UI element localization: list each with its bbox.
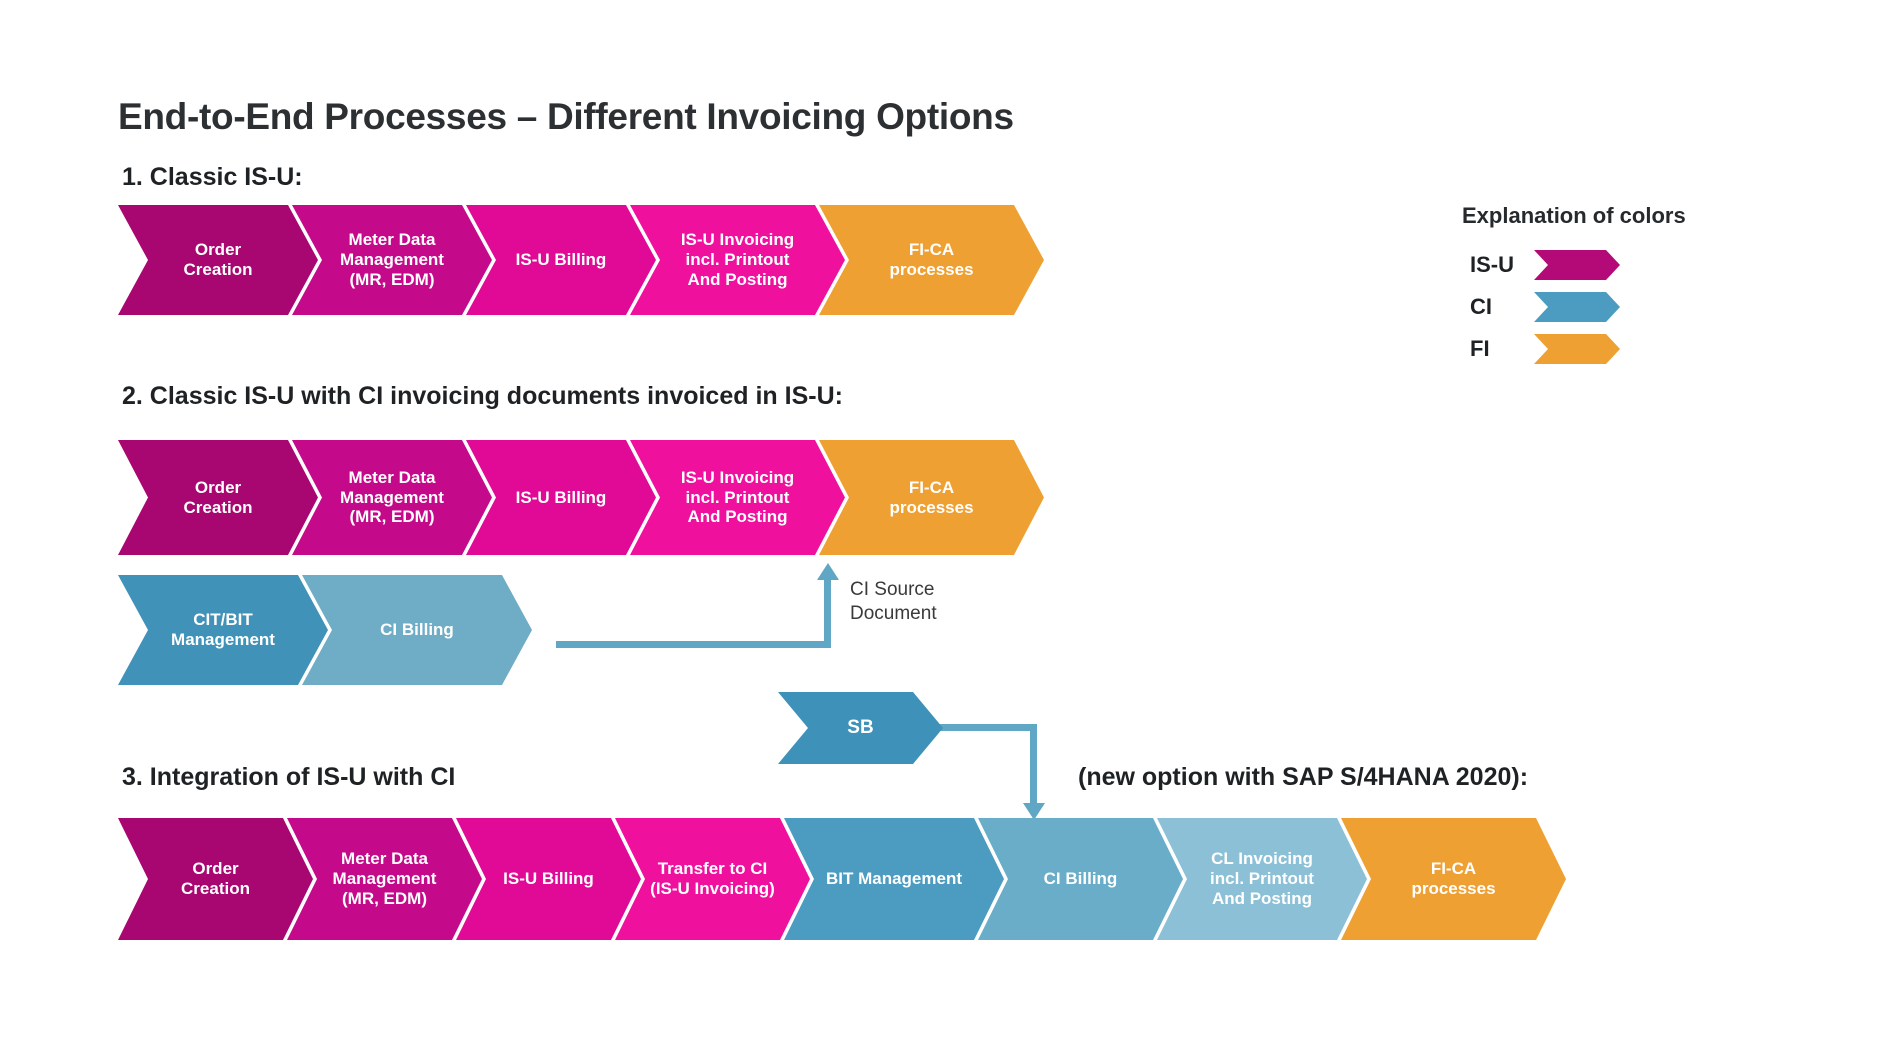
process-step-label: Order Creation bbox=[178, 240, 259, 280]
process-step-label: CL Invoicing incl. Printout And Posting bbox=[1204, 849, 1320, 909]
process-step[interactable]: IS-U Billing bbox=[456, 818, 641, 940]
process-step-label: BIT Management bbox=[820, 869, 968, 889]
legend-row-isu: IS-U bbox=[1470, 250, 1620, 280]
section-heading-2: 2. Classic IS-U with CI invoicing docume… bbox=[122, 382, 843, 411]
page-title: End-to-End Processes – Different Invoici… bbox=[118, 96, 1014, 138]
process-step[interactable]: Meter Data Management (MR, EDM) bbox=[292, 440, 492, 555]
process-step-label: IS-U Invoicing incl. Printout And Postin… bbox=[675, 230, 800, 290]
process-row-sb: SB bbox=[778, 692, 917, 764]
process-step[interactable]: IS-U Billing bbox=[466, 440, 656, 555]
process-step[interactable]: CI Billing bbox=[302, 575, 532, 685]
connector-ci-source-horizontal bbox=[556, 641, 831, 648]
section-heading-3: 3. Integration of IS-U with CI bbox=[122, 763, 455, 792]
legend-label-isu: IS-U bbox=[1470, 252, 1534, 278]
connector-sb-vertical bbox=[1030, 724, 1037, 804]
process-step[interactable]: FI-CA processes bbox=[819, 440, 1044, 555]
slide-canvas: End-to-End Processes – Different Invoici… bbox=[0, 0, 1900, 1050]
process-step[interactable]: CIT/BIT Management bbox=[118, 575, 328, 685]
legend-row-fi: FI bbox=[1470, 334, 1620, 364]
process-step-label: CIT/BIT Management bbox=[165, 610, 281, 650]
process-step[interactable]: Meter Data Management (MR, EDM) bbox=[292, 205, 492, 315]
process-step-label: FI-CA processes bbox=[883, 478, 979, 518]
process-step-label: IS-U Billing bbox=[510, 250, 613, 270]
connector-ci-source-label: CI Source Document bbox=[850, 578, 937, 627]
process-step[interactable]: Order Creation bbox=[118, 205, 318, 315]
connector-ci-source-vertical bbox=[824, 578, 831, 644]
legend-title: Explanation of colors bbox=[1462, 203, 1686, 229]
legend-swatch-ci bbox=[1534, 292, 1620, 322]
legend-swatch-fi bbox=[1534, 334, 1620, 364]
process-step-label: FI-CA processes bbox=[1405, 859, 1501, 899]
process-row-isu-ci-integration: Order CreationMeter Data Management (MR,… bbox=[118, 818, 1540, 940]
process-step[interactable]: CI Billing bbox=[978, 818, 1183, 940]
process-step[interactable]: IS-U Invoicing incl. Printout And Postin… bbox=[630, 440, 845, 555]
process-step[interactable]: IS-U Billing bbox=[466, 205, 656, 315]
process-step-label: IS-U Billing bbox=[510, 488, 613, 508]
process-step-label: Transfer to CI (IS-U Invoicing) bbox=[644, 859, 781, 899]
connector-sb-arrowhead bbox=[1023, 803, 1045, 820]
process-step[interactable]: SB bbox=[778, 692, 943, 764]
process-step[interactable]: Meter Data Management (MR, EDM) bbox=[287, 818, 482, 940]
process-row-classic-isu: Order CreationMeter Data Management (MR,… bbox=[118, 205, 1018, 315]
process-step[interactable]: Transfer to CI (IS-U Invoicing) bbox=[615, 818, 810, 940]
process-step[interactable]: FI-CA processes bbox=[819, 205, 1044, 315]
process-step-label: CI Billing bbox=[374, 620, 460, 640]
process-step[interactable]: Order Creation bbox=[118, 440, 318, 555]
process-step-label: IS-U Invoicing incl. Printout And Postin… bbox=[675, 468, 800, 528]
section-heading-3-note: (new option with SAP S/4HANA 2020): bbox=[1078, 763, 1528, 792]
process-step[interactable]: CL Invoicing incl. Printout And Posting bbox=[1157, 818, 1367, 940]
process-step-label: Meter Data Management (MR, EDM) bbox=[334, 468, 450, 528]
section-heading-1: 1. Classic IS-U: bbox=[122, 163, 303, 192]
process-step-label: Order Creation bbox=[178, 478, 259, 518]
legend-label-fi: FI bbox=[1470, 336, 1534, 362]
process-step-label: FI-CA processes bbox=[883, 240, 979, 280]
connector-ci-source-arrowhead bbox=[817, 563, 839, 580]
process-step[interactable]: Order Creation bbox=[118, 818, 313, 940]
process-step[interactable]: IS-U Invoicing incl. Printout And Postin… bbox=[630, 205, 845, 315]
process-step-label: SB bbox=[841, 717, 879, 739]
process-step-label: CI Billing bbox=[1038, 869, 1124, 889]
process-step[interactable]: BIT Management bbox=[784, 818, 1004, 940]
legend-row-ci: CI bbox=[1470, 292, 1620, 322]
legend-swatch-isu bbox=[1534, 250, 1620, 280]
process-step[interactable]: FI-CA processes bbox=[1341, 818, 1566, 940]
process-step-label: IS-U Billing bbox=[497, 869, 600, 889]
process-row-ci-billing: CIT/BIT ManagementCI Billing bbox=[118, 575, 506, 685]
process-step-label: Order Creation bbox=[175, 859, 256, 899]
process-step-label: Meter Data Management (MR, EDM) bbox=[327, 849, 443, 909]
process-row-classic-isu-with-ci: Order CreationMeter Data Management (MR,… bbox=[118, 440, 1018, 555]
legend-label-ci: CI bbox=[1470, 294, 1534, 320]
process-step-label: Meter Data Management (MR, EDM) bbox=[334, 230, 450, 290]
